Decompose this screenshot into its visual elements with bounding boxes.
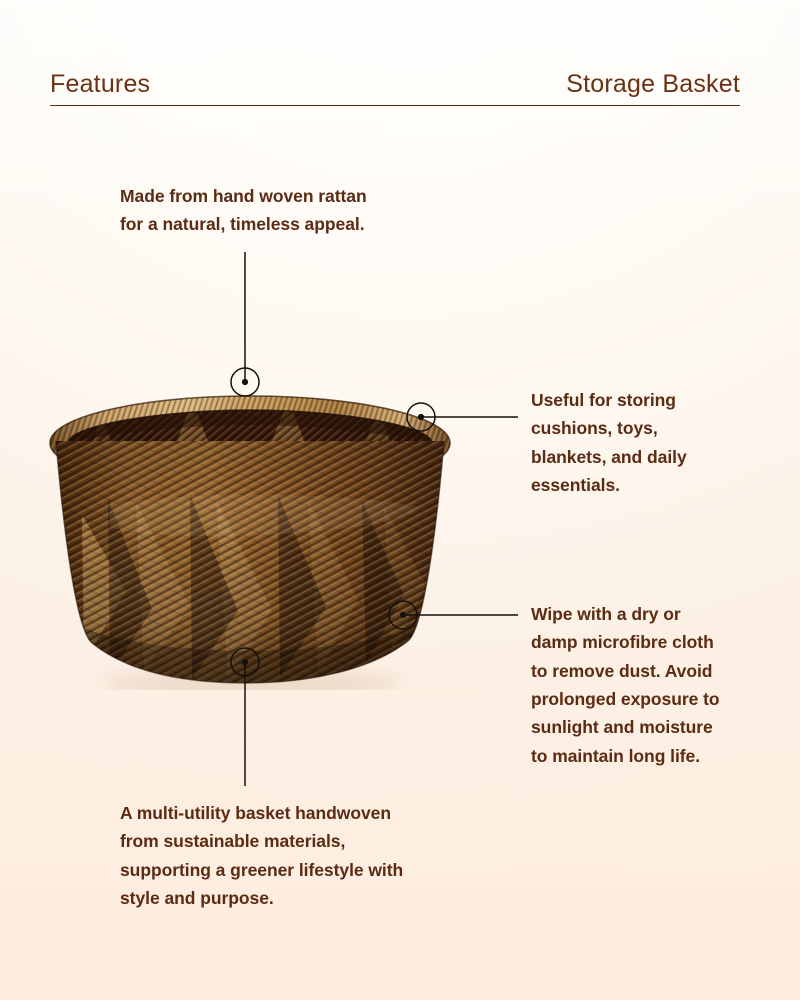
page-title: Features — [50, 71, 150, 106]
infographic-page: Features Storage Basket — [0, 0, 800, 1000]
basket-body — [40, 425, 480, 690]
product-image — [40, 395, 480, 690]
callout-text-usage: Useful for storing cushions, toys, blank… — [531, 386, 761, 499]
callout-text-material: Made from hand woven rattan for a natura… — [120, 182, 450, 239]
product-name: Storage Basket — [566, 71, 740, 106]
woven-rattan-basket-icon — [40, 395, 480, 690]
page-header: Features Storage Basket — [50, 58, 740, 106]
callout-text-care: Wipe with a dry or damp microfibre cloth… — [531, 600, 776, 770]
material-marker[interactable] — [231, 368, 259, 396]
callout-text-sustainability: A multi-utility basket handwoven from su… — [120, 799, 490, 912]
